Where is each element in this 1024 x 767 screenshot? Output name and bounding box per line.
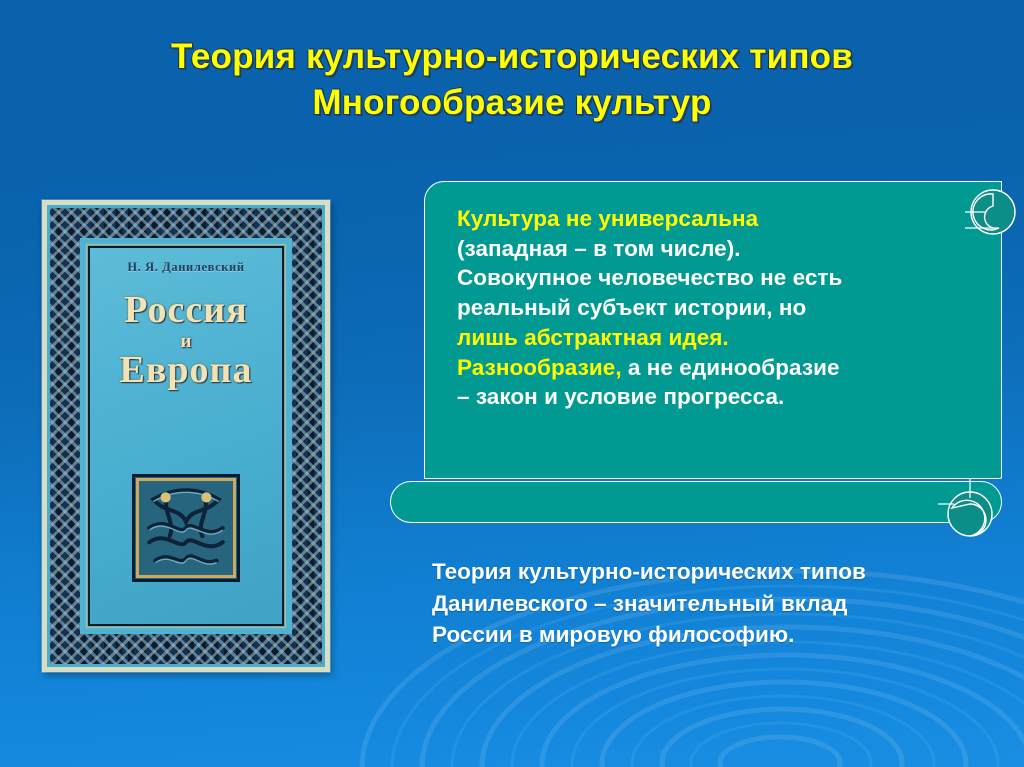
callout-line-3: Совокупное человечество не есть — [457, 263, 971, 293]
callout-text: Культура не универсальна (западная – в т… — [457, 204, 971, 412]
callout-line-1: Культура не универсальна — [457, 204, 971, 234]
callout-line-7: – закон и условие прогресса. — [457, 382, 971, 412]
book-cover-image: Н. Я. Данилевский Россия и Европа — [42, 200, 330, 672]
page-curl-bottom-right-icon — [938, 478, 1002, 542]
callout-bottom-tab — [390, 481, 1002, 523]
slide-title-line-2: Многообразие культур — [0, 80, 1024, 126]
book-title-second: Европа — [120, 351, 253, 391]
slide-caption: Теория культурно-исторических типов Дани… — [432, 556, 1012, 651]
book-title: Россия и Европа — [120, 291, 253, 391]
page-curl-top-right-icon — [965, 188, 1024, 248]
caption-line-3: России в мировую философию. — [432, 619, 1012, 651]
callout-line-2: (западная – в том числе). — [457, 234, 971, 264]
book-cover-inner-panel: Н. Я. Данилевский Россия и Европа — [88, 246, 284, 626]
book-author-name: Н. Я. Данилевский — [127, 260, 244, 275]
callout-box: Культура не универсальна (западная – в т… — [424, 181, 1002, 479]
callout-line-6: Разнообразие, а не единообразие — [457, 353, 971, 383]
callout-line-4: реальный субъект истории, но — [457, 293, 971, 323]
slide-title: Теория культурно-исторических типов Мног… — [0, 34, 1024, 125]
celtic-knot-medallion-icon — [132, 474, 240, 582]
slide-title-line-1: Теория культурно-исторических типов — [0, 34, 1024, 80]
book-title-main: Россия — [120, 291, 253, 331]
callout-line-5: лишь абстрактная идея. — [457, 323, 971, 353]
caption-line-1: Теория культурно-исторических типов — [432, 556, 1012, 588]
slide-canvas: Теория культурно-исторических типов Мног… — [0, 0, 1024, 767]
caption-line-2: Данилевского – значительный вклад — [432, 588, 1012, 620]
